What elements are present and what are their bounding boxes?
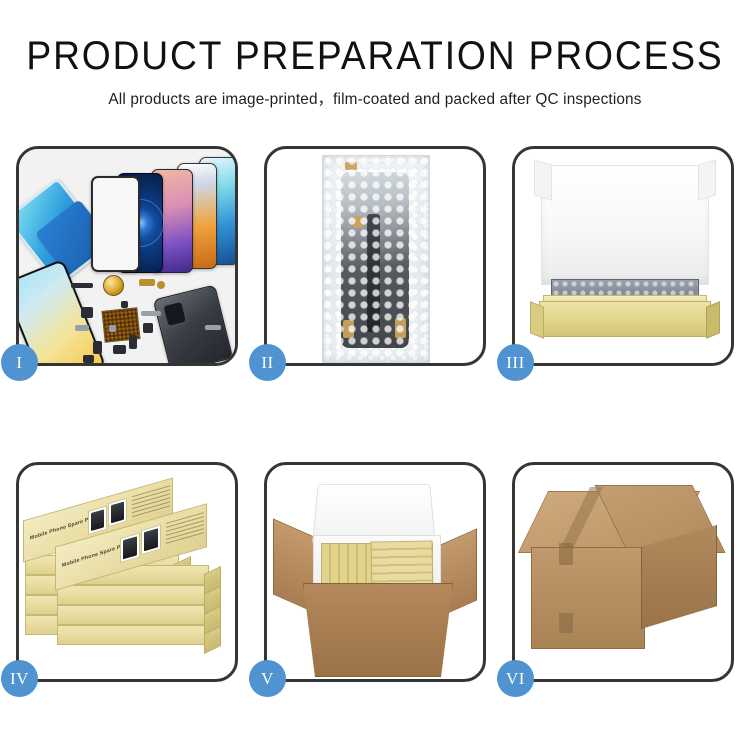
panel-1-image	[19, 149, 235, 363]
tape-piece	[345, 162, 357, 170]
tape-piece	[353, 216, 363, 228]
small-part	[75, 325, 89, 331]
tape-piece	[343, 320, 354, 338]
page-title: PRODUCT PREPARATION PROCESS	[26, 34, 724, 78]
panel-badge-3: III	[497, 344, 534, 381]
box-window	[120, 532, 140, 563]
small-part	[121, 301, 128, 308]
box-window	[108, 498, 127, 527]
yellow-inner-box	[539, 301, 711, 337]
foam-lid	[541, 165, 709, 285]
panel-badge-2: II	[249, 344, 286, 381]
carton-body	[303, 583, 453, 677]
small-part	[143, 323, 153, 333]
small-part	[139, 279, 155, 286]
small-part	[83, 355, 94, 363]
panel-badge-5: V	[249, 660, 286, 697]
panel-badge-1: I	[1, 344, 38, 381]
stacked-box	[57, 605, 209, 625]
page-subtitle: All products are image-printed，film-coat…	[15, 85, 735, 109]
process-panel-grid: I II	[16, 146, 734, 716]
small-part	[113, 345, 126, 354]
panel-2-image	[267, 149, 483, 363]
process-panel-4: Mobile Phone Spare Parts Mobile Phone Sp…	[16, 462, 238, 682]
flex-cable	[367, 214, 380, 332]
carton-front-face	[531, 547, 645, 649]
box-window	[141, 524, 161, 555]
small-part	[81, 307, 93, 318]
panel-badge-4: IV	[1, 660, 38, 697]
small-part	[215, 345, 224, 354]
process-panel-1: I	[16, 146, 238, 366]
tempered-glass-protector	[91, 176, 140, 272]
small-part	[109, 325, 116, 332]
header: PRODUCT PREPARATION PROCESS All products…	[0, 34, 750, 109]
small-part	[71, 283, 93, 288]
gold-part-icon	[103, 275, 124, 296]
small-part	[205, 325, 221, 330]
panel-6-image	[515, 465, 731, 679]
stacked-box	[57, 625, 209, 645]
small-part	[141, 311, 161, 316]
product-preparation-infographic: PRODUCT PREPARATION PROCESS All products…	[0, 0, 750, 750]
stacked-box	[57, 585, 209, 605]
process-panel-3: III	[512, 146, 734, 366]
process-panel-6: VI	[512, 462, 734, 682]
tape-piece	[395, 318, 406, 338]
small-part	[93, 341, 102, 354]
process-panel-2: II	[264, 146, 486, 366]
box-spec-lines	[166, 512, 204, 547]
panel-4-image: Mobile Phone Spare Parts Mobile Phone Sp…	[19, 465, 235, 679]
carton-tape	[559, 543, 573, 565]
small-part	[129, 335, 137, 349]
small-part	[157, 281, 165, 289]
panel-badge-6: VI	[497, 660, 534, 697]
carton-tape	[559, 613, 573, 633]
bubble-wrap-bag	[322, 155, 430, 363]
panel-3-image	[515, 149, 731, 363]
panel-5-image	[267, 465, 483, 679]
process-panel-5: V	[264, 462, 486, 682]
box-window	[88, 505, 107, 534]
